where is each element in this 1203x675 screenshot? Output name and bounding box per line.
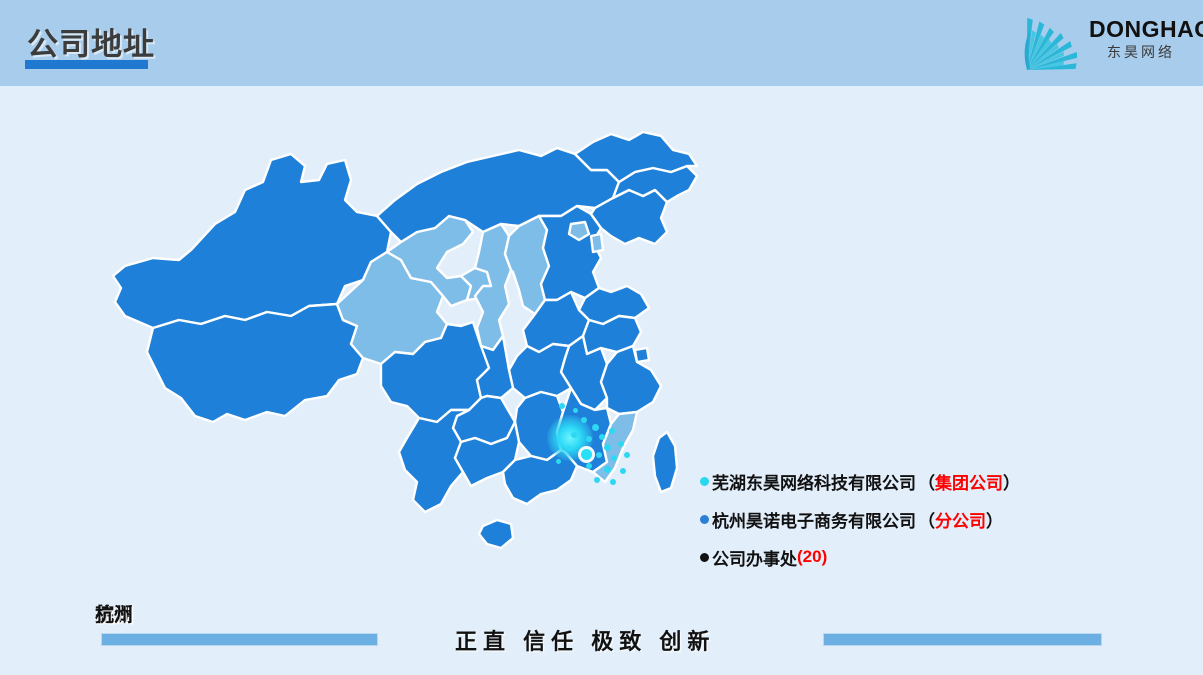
office-dot[interactable] — [618, 441, 624, 447]
china-map: 芜湖 杭州 — [95, 120, 705, 600]
office-dot[interactable] — [559, 403, 565, 409]
legend-bullet-icon — [700, 515, 709, 524]
legend-tag-close: ） — [986, 512, 1003, 531]
map-label-hangzhou: 杭州 — [95, 600, 133, 627]
footer-slogan: 正直 信任 极致 创新 — [455, 624, 715, 656]
province-hubei — [509, 344, 571, 398]
office-dot[interactable] — [586, 463, 592, 469]
legend-company-name: 杭州昊诺电子商务有限公司 — [712, 507, 916, 532]
slide-canvas: 公司地址 — [0, 0, 1203, 675]
office-dot[interactable] — [581, 417, 587, 423]
office-dot[interactable] — [604, 466, 611, 473]
office-dot[interactable] — [566, 446, 571, 451]
legend-tag-open: （ — [918, 512, 935, 531]
page-title: 公司地址 — [27, 19, 155, 64]
province-shanxi — [505, 216, 549, 314]
office-dot[interactable] — [624, 452, 630, 458]
logo-subtitle: 东昊网络 — [1089, 43, 1193, 61]
province-tianjin — [591, 234, 603, 252]
legend-company-tag: （集团公司） — [918, 469, 1020, 494]
footer-bar-right — [823, 633, 1102, 646]
office-dot[interactable] — [556, 459, 561, 464]
logo-text-block: DONGHAO 东昊网络 — [1089, 17, 1193, 61]
office-dot[interactable] — [594, 477, 600, 483]
legend-company-tag: （分公司） — [918, 507, 1003, 532]
office-dot[interactable] — [573, 408, 578, 413]
legend-tag-text: 集团公司 — [935, 474, 1003, 493]
province-hebei — [539, 206, 601, 300]
office-dot[interactable] — [609, 428, 615, 434]
office-dot[interactable] — [611, 455, 617, 461]
office-dot[interactable] — [610, 479, 616, 485]
legend-tag-text: 分公司 — [935, 512, 986, 531]
title-underline-accent — [25, 60, 148, 69]
china-map-svg — [95, 120, 705, 600]
office-dot[interactable] — [604, 444, 611, 451]
legend-tag-close: ） — [1003, 474, 1020, 493]
hangzhou-marker[interactable] — [581, 449, 592, 460]
legend-bullet-icon — [700, 477, 709, 486]
legend-company-name: 公司办事处 — [712, 545, 797, 570]
legend-tag-open: （ — [918, 474, 935, 493]
office-dot[interactable] — [592, 424, 599, 431]
footer-bar-left — [101, 633, 378, 646]
legend-bullet-icon — [700, 553, 709, 562]
office-dot[interactable] — [596, 452, 602, 458]
province-tibet — [147, 304, 363, 422]
legend: 芜湖东昊网络科技有限公司 （集团公司） 杭州昊诺电子商务有限公司 （分公司） 公… — [700, 462, 1120, 576]
legend-company-name: 芜湖东昊网络科技有限公司 — [712, 469, 916, 494]
legend-item-offices: 公司办事处 (20) — [700, 538, 1120, 576]
legend-item-branch-company: 杭州昊诺电子商务有限公司 （分公司） — [700, 500, 1120, 538]
company-logo: DONGHAO 东昊网络 — [1015, 8, 1195, 74]
province-hainan — [479, 520, 513, 548]
logo-name: DONGHAO — [1089, 17, 1193, 41]
office-dot[interactable] — [571, 432, 577, 438]
province-zhejiang — [601, 346, 661, 414]
legend-office-count: (20) — [797, 547, 827, 567]
office-dot[interactable] — [620, 468, 626, 474]
office-dot[interactable] — [599, 434, 605, 440]
office-dot[interactable] — [586, 436, 592, 442]
legend-item-group-company: 芜湖东昊网络科技有限公司 （集团公司） — [700, 462, 1120, 500]
province-taiwan — [653, 432, 677, 492]
fan-blades-logo-icon — [1017, 8, 1087, 74]
